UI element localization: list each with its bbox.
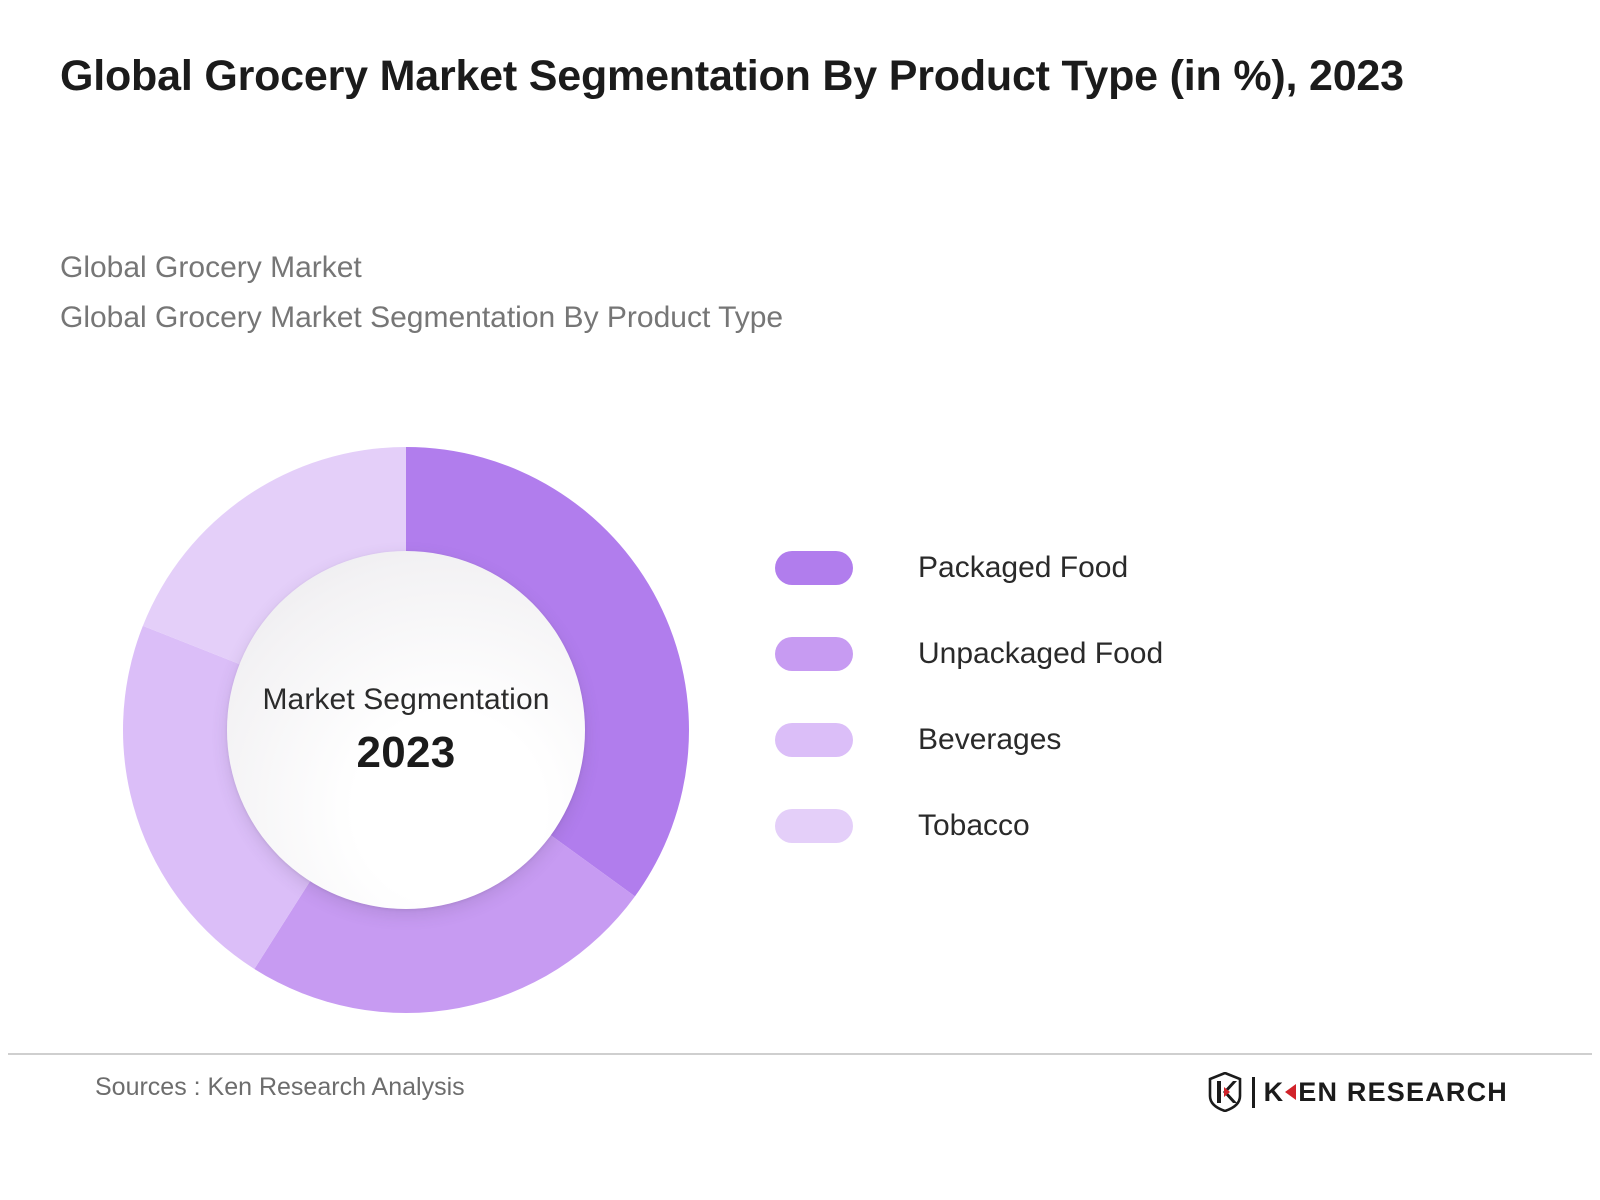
legend-swatch-icon bbox=[775, 809, 853, 843]
page-title: Global Grocery Market Segmentation By Pr… bbox=[60, 48, 1510, 105]
subtitle-block: Global Grocery Market Global Grocery Mar… bbox=[60, 243, 1360, 344]
legend-swatch-icon bbox=[775, 637, 853, 671]
footer-divider bbox=[8, 1053, 1592, 1055]
legend-item-label: Unpackaged Food bbox=[918, 637, 1163, 671]
ken-research-logo: K EN RESEARCH bbox=[1208, 1072, 1508, 1112]
legend-item-label: Packaged Food bbox=[918, 551, 1128, 585]
legend-item[interactable]: Unpackaged Food bbox=[775, 611, 1395, 697]
legend-item[interactable]: Tobacco bbox=[775, 783, 1395, 869]
legend-item-label: Beverages bbox=[918, 723, 1061, 757]
logo-wordmark-rest: EN RESEARCH bbox=[1298, 1077, 1508, 1108]
chart-page: Global Grocery Market Segmentation By Pr… bbox=[0, 0, 1600, 1200]
ken-shield-k-icon bbox=[1208, 1072, 1242, 1112]
donut-center-label: Market Segmentation bbox=[262, 683, 549, 716]
legend-swatch-icon bbox=[775, 551, 853, 585]
legend-item[interactable]: Beverages bbox=[775, 697, 1395, 783]
subtitle-line-2: Global Grocery Market Segmentation By Pr… bbox=[60, 293, 1360, 343]
logo-wordmark: K EN RESEARCH bbox=[1264, 1077, 1508, 1108]
donut-center-year: 2023 bbox=[356, 728, 455, 778]
chart-area: Market Segmentation 2023 Packaged FoodUn… bbox=[0, 400, 1600, 1050]
footer-source-text: Sources : Ken Research Analysis bbox=[95, 1073, 465, 1102]
logo-letter-k: K bbox=[1264, 1077, 1285, 1108]
donut-chart: Market Segmentation 2023 bbox=[123, 447, 689, 1013]
legend-item-label: Tobacco bbox=[918, 809, 1030, 843]
header: Global Grocery Market Segmentation By Pr… bbox=[60, 48, 1510, 105]
logo-divider bbox=[1252, 1077, 1255, 1108]
logo-triangle-icon bbox=[1285, 1084, 1296, 1100]
subtitle-line-1: Global Grocery Market bbox=[60, 243, 1360, 293]
legend-item[interactable]: Packaged Food bbox=[775, 525, 1395, 611]
chart-legend: Packaged FoodUnpackaged FoodBeveragesTob… bbox=[775, 525, 1395, 869]
donut-center-hub: Market Segmentation 2023 bbox=[227, 551, 585, 909]
legend-swatch-icon bbox=[775, 723, 853, 757]
